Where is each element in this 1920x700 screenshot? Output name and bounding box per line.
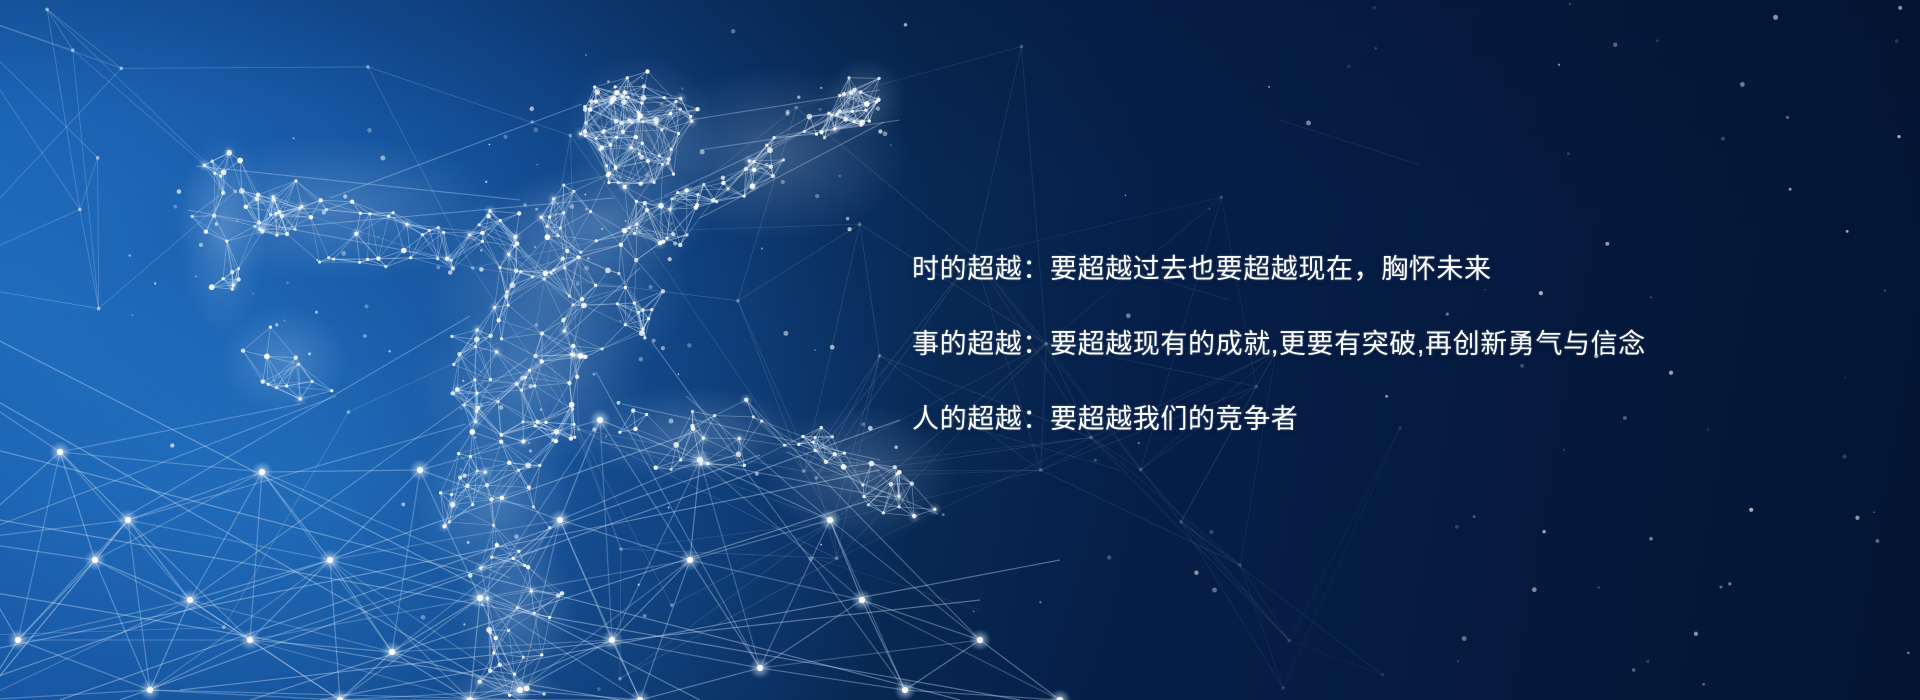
- tagline-line-people: 人的超越：要超越我们的竞争者: [912, 382, 1672, 457]
- tagline-line-time: 时的超越：要超越过去也要超越现在，胸怀未来: [912, 232, 1672, 307]
- tagline-block: 时的超越：要超越过去也要超越现在，胸怀未来 事的超越：要超越现有的成就,更要有突…: [912, 232, 1672, 457]
- tagline-line-matter: 事的超越：要超越现有的成就,更要有突破,再创新勇气与信念: [912, 307, 1672, 382]
- banner-stage: 时的超越：要超越过去也要超越现在，胸怀未来 事的超越：要超越现有的成就,更要有突…: [0, 0, 1920, 700]
